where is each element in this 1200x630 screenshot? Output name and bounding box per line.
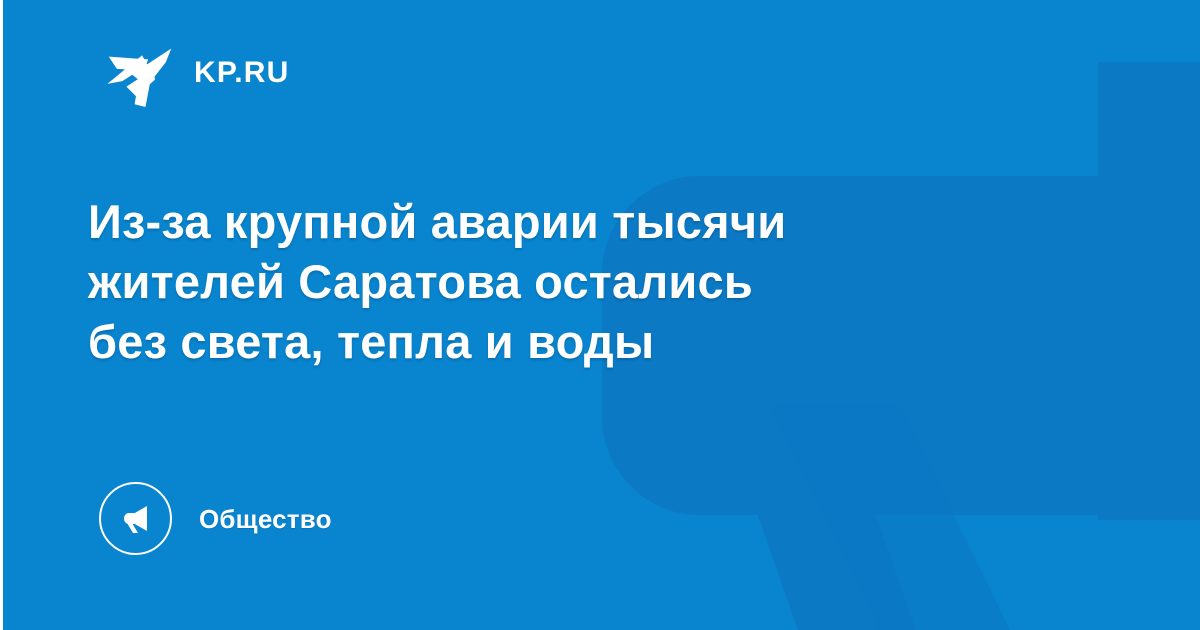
category-label: Общество [199,506,332,532]
swallow-bird-icon [106,38,174,108]
headline-line-3: без света, тепла и воды [88,312,988,372]
megaphone-icon [116,499,156,539]
headline-line-1: Из-за крупной аварии тысячи [88,192,988,252]
page-title: Из-за крупной аварии тысячи жителей Сара… [88,192,988,372]
left-edge-border [0,0,3,630]
brand-name: KP.RU [194,58,289,88]
category-icon-circle [99,482,172,555]
brand-header[interactable]: KP.RU [106,38,289,108]
headline-line-2: жителей Саратова остались [88,252,988,312]
category-badge-group[interactable]: Общество [99,482,332,555]
share-card: KP.RU Из-за крупной аварии тысячи жителе… [0,0,1200,630]
